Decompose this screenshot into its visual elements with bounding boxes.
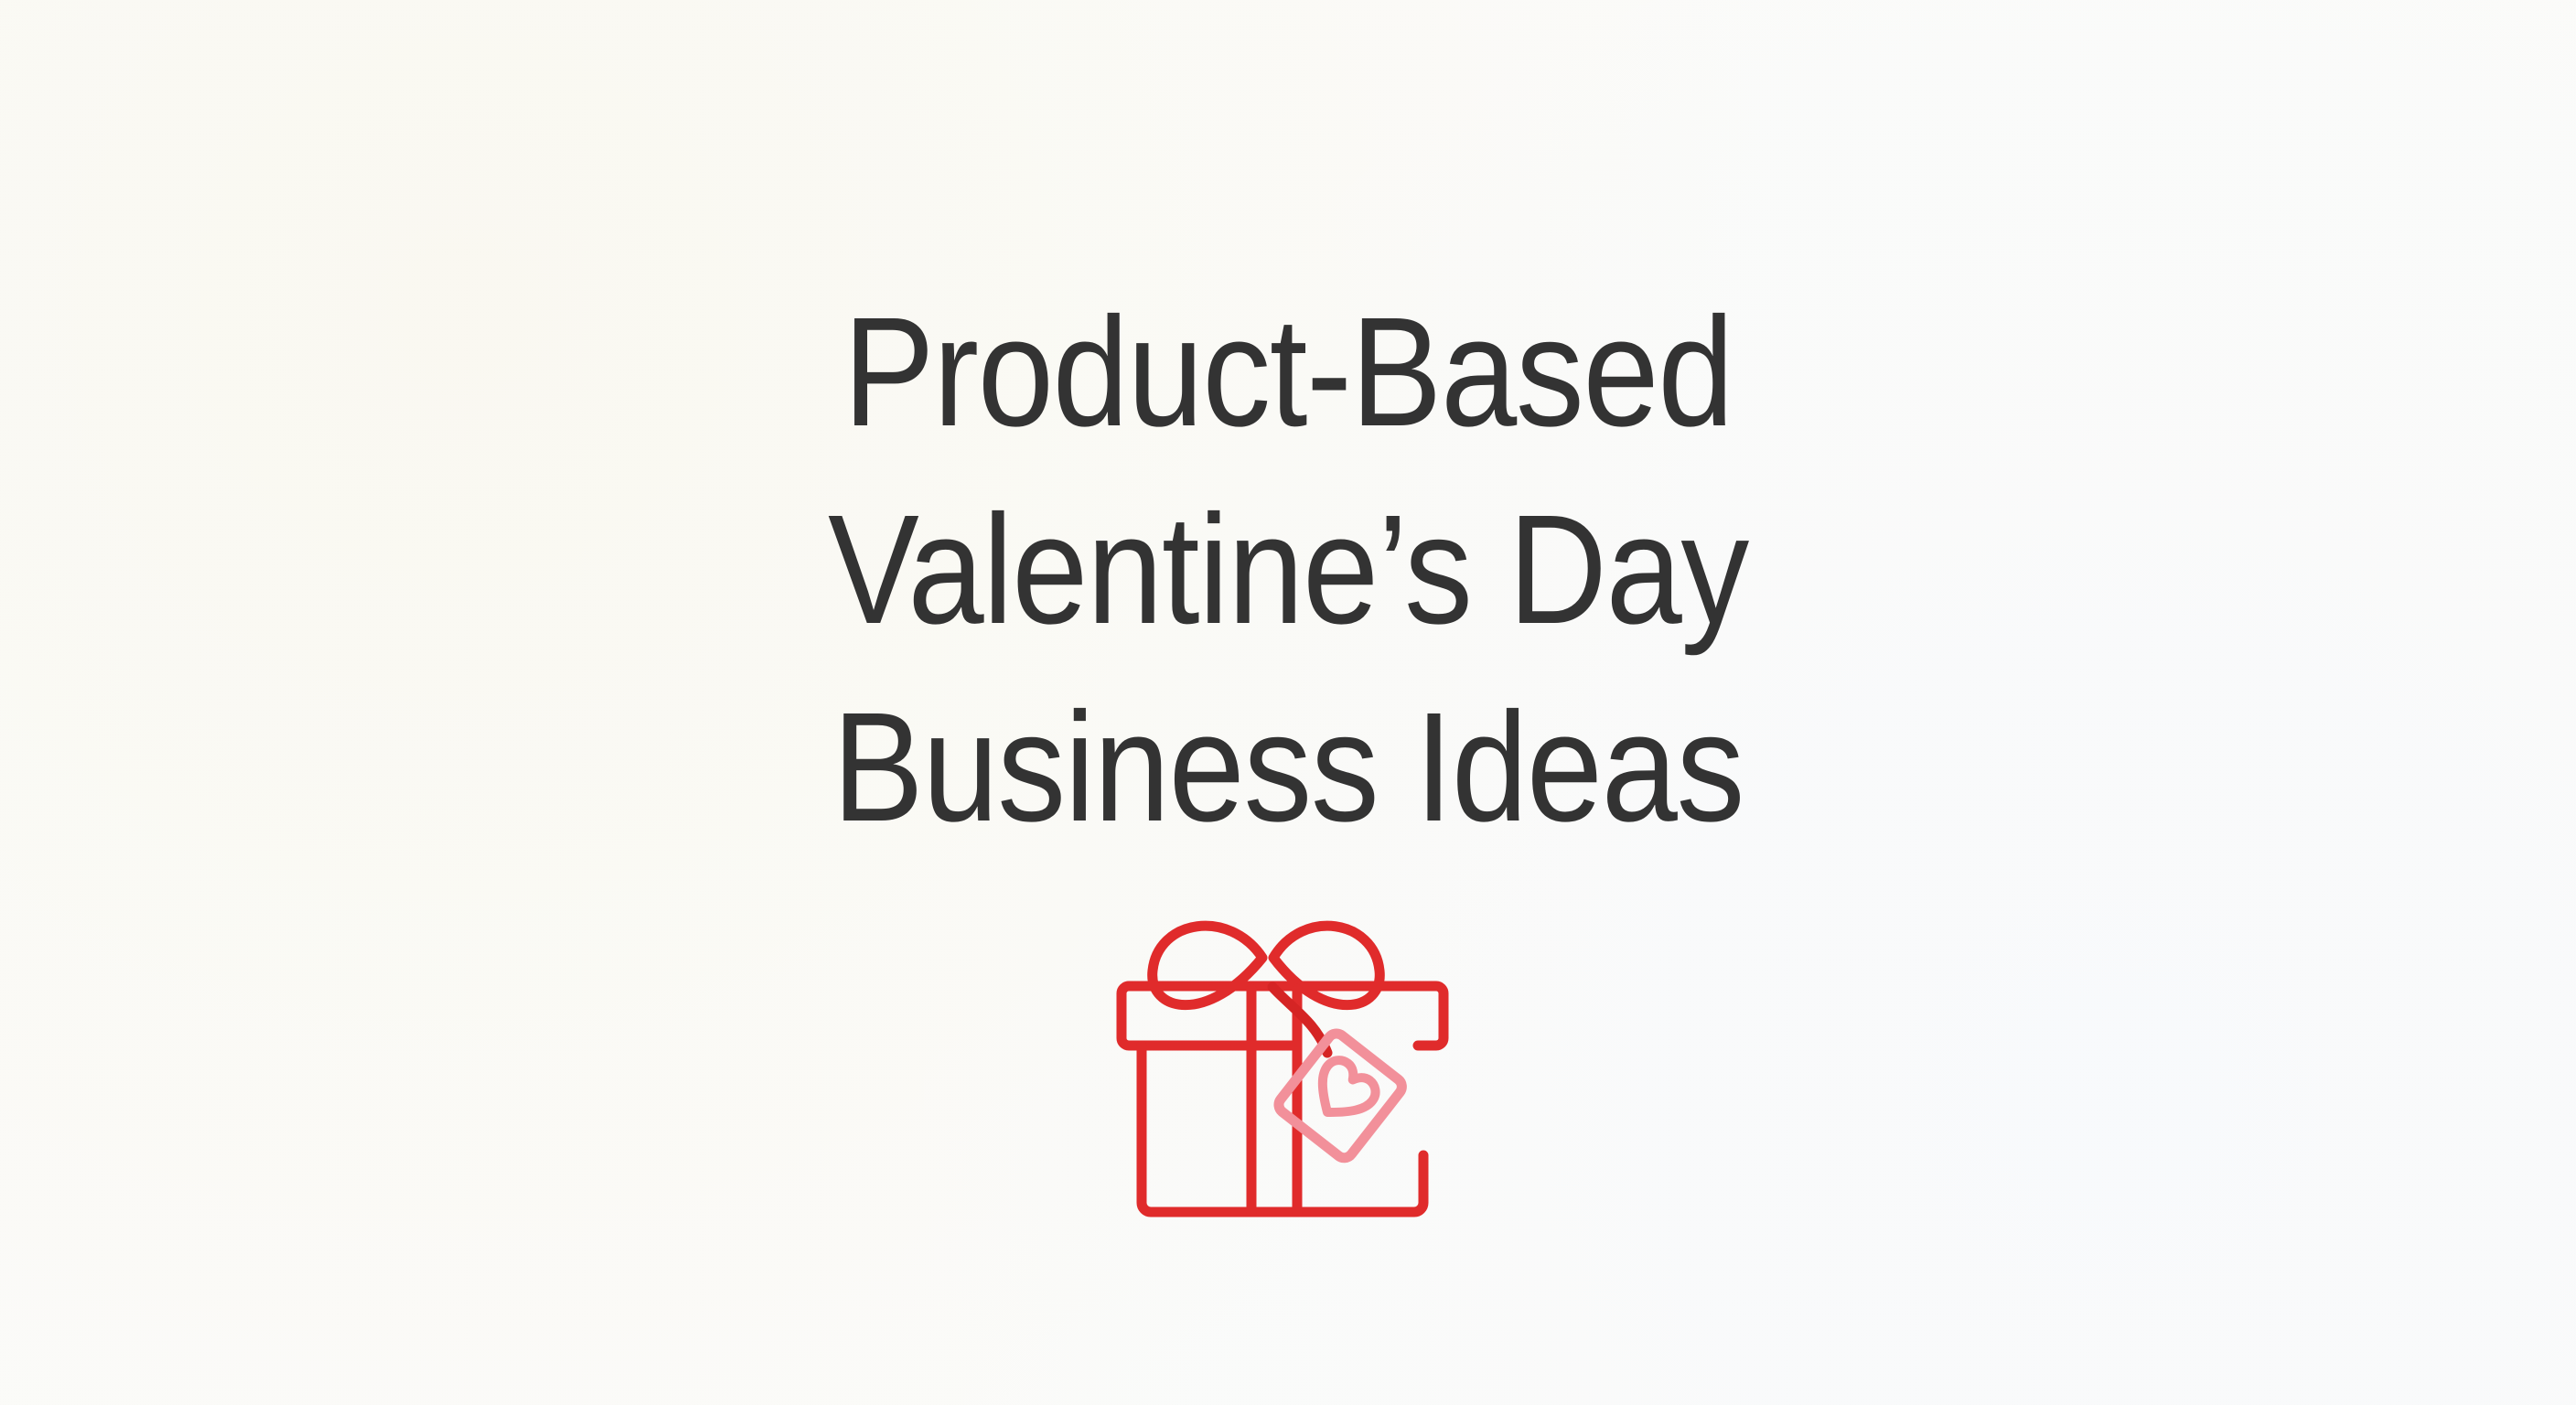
heart-outline-icon — [1305, 1055, 1381, 1130]
title-line-3: Business Ideas — [155, 670, 2421, 867]
ribbon-bow-icon — [1153, 926, 1380, 1004]
gift-box-with-heart-tag-icon — [1105, 892, 1471, 1258]
page-title: Product-Based Valentine’s Day Business I… — [0, 274, 2576, 867]
title-line-2: Valentine’s Day — [155, 472, 2421, 670]
title-line-1: Product-Based — [155, 274, 2421, 472]
slide-canvas: Product-Based Valentine’s Day Business I… — [0, 0, 2576, 1405]
